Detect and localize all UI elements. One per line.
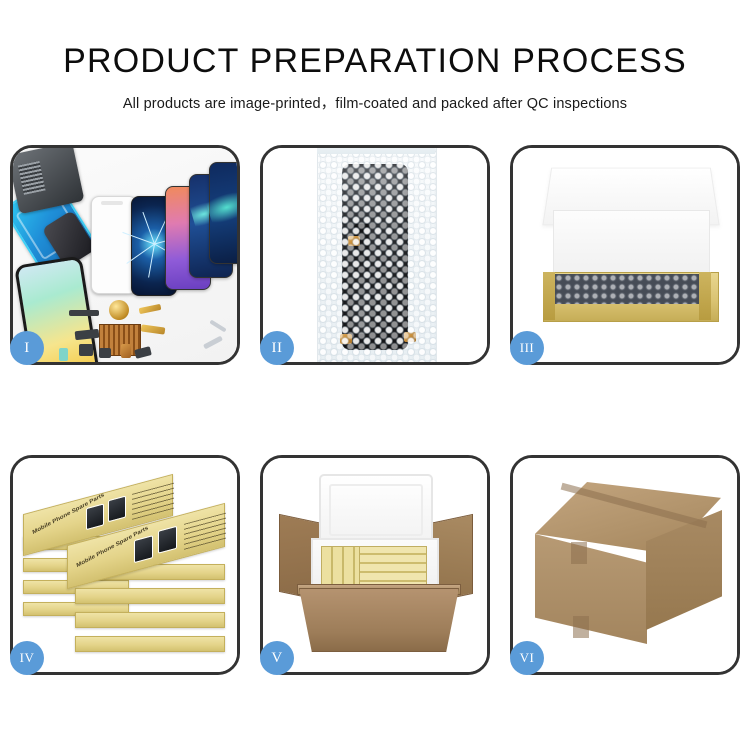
box-thumbnail [134, 535, 153, 563]
sim-tray-part [79, 344, 93, 356]
box-lid-front [553, 210, 710, 278]
tweezers-tool [203, 336, 223, 350]
bubble-texture-overlay [318, 148, 436, 362]
step-badge-6-label: VI [520, 650, 535, 666]
step-badge-1: I [10, 331, 44, 365]
flex-cable-part [141, 324, 166, 334]
screen-protector-part [59, 348, 68, 361]
process-step-card-2[interactable]: II [260, 145, 490, 365]
step-6-image [513, 458, 737, 672]
process-step-card-5[interactable]: V [260, 455, 490, 675]
bubble-wrapped-contents [555, 274, 705, 304]
bubble-wrap-bag [317, 148, 437, 362]
teal-streak-phone [209, 162, 237, 264]
process-step-card-6[interactable]: VI [510, 455, 740, 675]
scene-foam-carton-packing [263, 458, 487, 672]
bag-seal [317, 148, 435, 154]
screwdriver-tool [209, 320, 226, 333]
step-badge-2: II [260, 331, 294, 365]
stacked-box [75, 636, 225, 652]
step-badge-6: VI [510, 641, 544, 675]
seal-tape-front-lower [573, 616, 589, 638]
scene-product-parts [13, 148, 237, 362]
box-feature-list [132, 483, 174, 520]
product-preparation-infographic: PRODUCT PREPARATION PROCESS All products… [0, 0, 750, 750]
step-badge-4-label: IV [20, 650, 35, 666]
seal-tape-front-upper [571, 542, 587, 564]
box-feature-list [184, 513, 226, 550]
process-step-card-4[interactable]: Mobile Phone Spare Parts Mobile Pho [10, 455, 240, 675]
step-badge-3-label: III [520, 340, 535, 356]
process-step-card-3[interactable]: III [510, 145, 740, 365]
scene-inner-box-packing [513, 148, 737, 362]
battery-connector-part [121, 344, 131, 358]
box-side-right [699, 272, 711, 320]
page-title: PRODUCT PREPARATION PROCESS [0, 0, 750, 80]
header: PRODUCT PREPARATION PROCESS All products… [0, 0, 750, 113]
step-1-image [13, 148, 237, 362]
step-2-image [263, 148, 487, 362]
box-thumbnail [108, 495, 126, 522]
step-badge-1-label: I [24, 340, 30, 357]
step-badge-5-label: V [271, 650, 282, 667]
step-badge-5: V [260, 641, 294, 675]
scene-bubble-wrapping [263, 148, 487, 362]
styrofoam-lid [319, 474, 433, 546]
box-side-left [543, 272, 555, 320]
vibration-motor-part [109, 300, 129, 320]
speaker-part [69, 310, 99, 316]
small-ic-part [99, 348, 111, 358]
scene-sealed-carton [513, 458, 737, 672]
box-thumbnail [158, 526, 177, 554]
box-stack: Mobile Phone Spare Parts Mobile Pho [19, 484, 237, 668]
shipping-carton-open [299, 588, 459, 652]
step-3-image [513, 148, 737, 362]
carton-front-face [535, 534, 647, 644]
disassembled-back-housing [13, 148, 85, 214]
step-4-image: Mobile Phone Spare Parts Mobile Pho [13, 458, 237, 672]
stacked-box [75, 612, 225, 628]
process-step-card-1[interactable]: I [10, 145, 240, 365]
process-step-grid: I II [10, 145, 740, 675]
step-badge-3: III [510, 331, 544, 365]
stacked-box [75, 588, 225, 604]
page-subtitle: All products are image-printed，film-coat… [0, 80, 750, 113]
box-thumbnail [86, 503, 104, 530]
flex-cable-part [139, 304, 162, 314]
step-badge-4: IV [10, 641, 44, 675]
step-badge-2-label: II [272, 340, 283, 357]
camera-module-part [75, 329, 100, 340]
scene-retail-box-stack: Mobile Phone Spare Parts Mobile Pho [13, 458, 237, 672]
step-5-image [263, 458, 487, 672]
